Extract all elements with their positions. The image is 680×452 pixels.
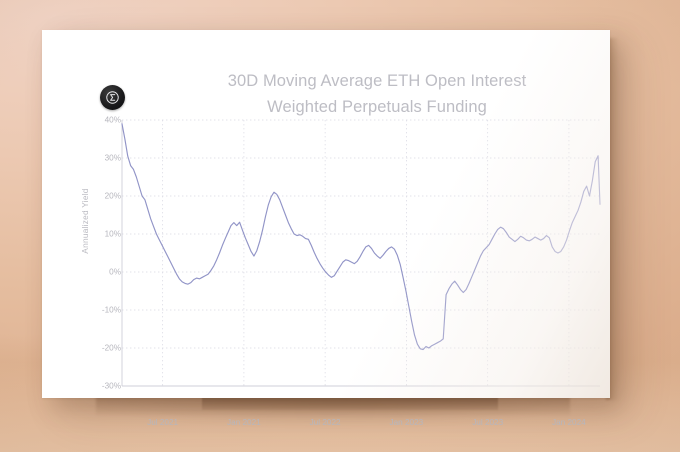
x-axis-tick-label: Jul 2023 (453, 418, 523, 427)
plot-area: Annualized Yield 40%30%20%10%0%-10%-20%-… (42, 30, 610, 398)
chart-svg (42, 30, 610, 398)
card-ledge-step (202, 396, 498, 410)
x-axis-tick-label: Jul 2022 (290, 418, 360, 427)
x-axis-tick-label: Jan 2021 (209, 418, 279, 427)
x-axis-ticks: Jul 2021Jan 2021Jul 2022Jan 2023Jul 2023… (42, 418, 610, 432)
x-axis-tick-label: Jan 2023 (371, 418, 441, 427)
x-axis-tick-label: Jul 2021 (128, 418, 198, 427)
circle-sigma-logo-icon (100, 85, 125, 110)
x-axis-tick-label: Jan 2024 (534, 418, 604, 427)
chart-card: 30D Moving Average ETH Open Interest Wei… (42, 30, 610, 398)
